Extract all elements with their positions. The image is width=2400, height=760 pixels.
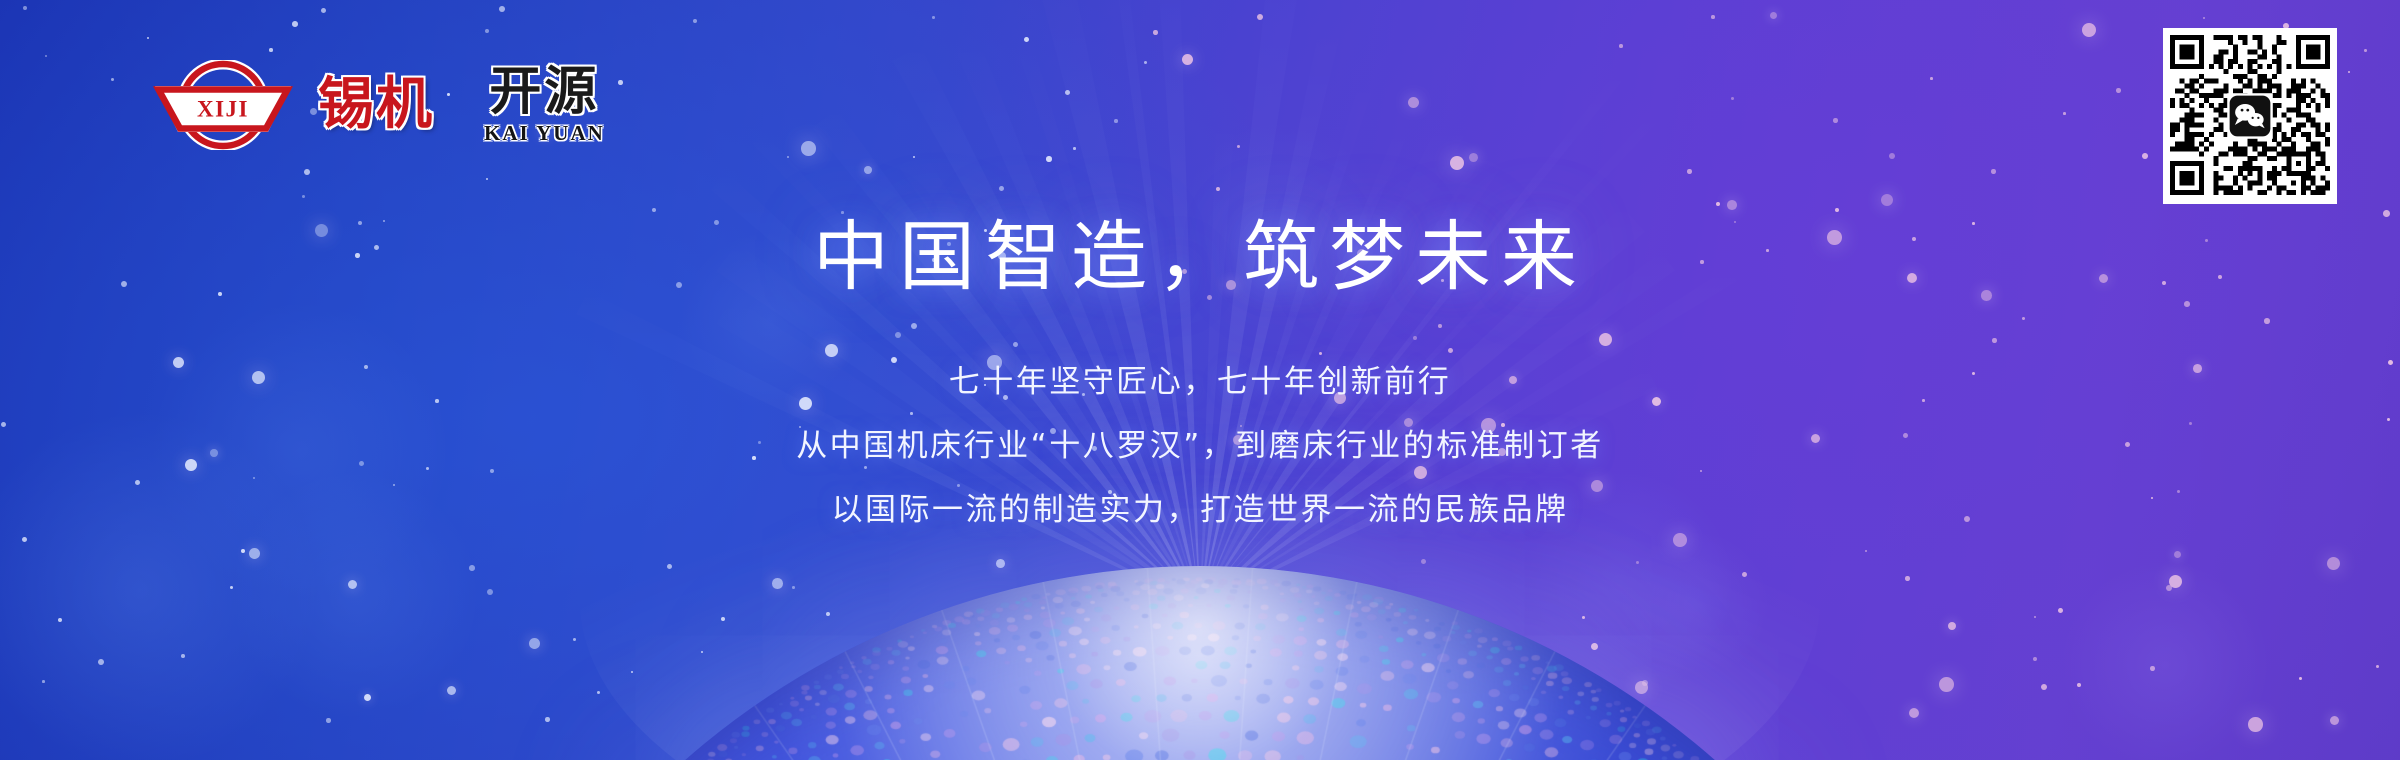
- particle-dot: [932, 16, 935, 19]
- particle-dot: [23, 6, 27, 10]
- particle-dot: [292, 21, 298, 27]
- particle-dot: [1716, 202, 1720, 206]
- promo-banner: XIJI 锡机 开源 KAI YUAN 中国智造，筑梦未来 七十年坚守匠心，七十…: [0, 0, 2400, 760]
- particle-dot: [913, 156, 915, 158]
- particle-dot: [1153, 30, 1158, 35]
- particle-dot: [469, 565, 475, 571]
- bokeh-circle: [2060, 560, 2270, 760]
- particle-dot: [2082, 23, 2096, 37]
- particle-dot: [826, 612, 830, 616]
- particle-dot: [545, 717, 550, 722]
- kaiyuan-brand-block: 开源 KAI YUAN: [484, 66, 605, 144]
- particle-dot: [2364, 49, 2367, 52]
- particle-dot: [1046, 156, 1052, 162]
- wechat-qr-code[interactable]: [2163, 28, 2337, 204]
- particle-dot: [1024, 37, 1029, 42]
- particle-dot: [667, 564, 672, 569]
- particle-dot: [1865, 550, 1867, 552]
- particle-dot: [1450, 156, 1464, 170]
- particle-dot: [1144, 61, 1147, 64]
- particle-dot: [486, 178, 488, 180]
- particle-dot: [1114, 119, 1118, 123]
- particle-dot: [499, 6, 505, 12]
- particle-dot: [1635, 681, 1648, 694]
- particle-dot: [573, 638, 576, 641]
- particle-dot: [1731, 97, 1734, 100]
- particle-dot: [1257, 14, 1263, 20]
- particle-dot: [1991, 169, 1996, 174]
- particle-dot: [348, 580, 357, 589]
- particle-dot: [792, 586, 795, 589]
- particle-dot: [996, 559, 1005, 568]
- particle-dot: [2041, 684, 2047, 690]
- particle-dot: [1216, 187, 1220, 191]
- particle-dot: [22, 537, 27, 542]
- particle-dot: [241, 549, 245, 553]
- particle-dot: [2203, 17, 2205, 19]
- particle-dot: [45, 55, 47, 57]
- particle-dot: [2033, 657, 2037, 661]
- particle-dot: [1909, 708, 1919, 718]
- particle-dot: [529, 638, 540, 649]
- subtitle-line-2: 从中国机床行业“十八罗汉”，到磨床行业的标准制订者: [0, 431, 2400, 462]
- particle-dot: [2166, 585, 2172, 591]
- globe-rim-shading: [420, 566, 1980, 760]
- particle-dot: [1469, 153, 1478, 162]
- particle-dot: [98, 659, 104, 665]
- particle-dot: [1237, 145, 1240, 148]
- particle-dot: [787, 156, 789, 158]
- xiji-emblem-icon: XIJI: [150, 60, 296, 150]
- particle-dot: [801, 141, 816, 156]
- particle-dot: [2376, 665, 2379, 668]
- particle-dot: [693, 19, 697, 23]
- svg-text:XIJI: XIJI: [197, 97, 249, 122]
- particle-dot: [1421, 559, 1426, 564]
- particle-dot: [2169, 575, 2182, 588]
- particle-dot: [1642, 680, 1648, 686]
- banner-copy-block: 中国智造，筑梦未来 七十年坚守匠心，七十年创新前行 从中国机床行业“十八罗汉”，…: [0, 212, 2400, 526]
- dotted-globe: [420, 566, 1980, 760]
- subtitle-line-1: 七十年坚守匠心，七十年创新前行: [0, 367, 2400, 398]
- particle-dot: [1182, 54, 1193, 65]
- particle-dot: [181, 654, 185, 658]
- particle-dot: [1770, 12, 1777, 19]
- particle-dot: [2034, 616, 2036, 618]
- kaiyuan-name-en: KAI YUAN: [484, 123, 605, 144]
- particle-dot: [1930, 77, 1933, 80]
- particle-dot: [1065, 90, 1070, 95]
- particle-dot: [1889, 153, 1895, 159]
- particle-dot: [364, 694, 371, 701]
- particle-dot: [631, 671, 633, 673]
- particle-dot: [485, 29, 489, 33]
- particle-dot: [1408, 97, 1419, 108]
- particle-dot: [111, 78, 114, 81]
- particle-dot: [1673, 533, 1687, 547]
- particle-dot: [2248, 717, 2263, 732]
- particle-dot: [1881, 194, 1893, 206]
- particle-dot: [721, 617, 725, 621]
- particle-dot: [302, 195, 305, 198]
- particle-dot: [2058, 608, 2063, 613]
- particle-dot: [1687, 169, 1692, 174]
- particle-dot: [2142, 153, 2148, 159]
- particle-dot: [1591, 643, 1598, 650]
- particle-dot: [999, 186, 1004, 191]
- page-title: 中国智造，筑梦未来: [0, 212, 2400, 302]
- particle-dot: [1742, 572, 1747, 577]
- particle-dot: [772, 578, 783, 589]
- particle-dot: [2116, 88, 2121, 93]
- particle-dot: [321, 8, 326, 13]
- particle-dot: [2330, 716, 2339, 725]
- particle-dot: [326, 718, 331, 723]
- particle-dot: [230, 586, 233, 589]
- particle-dot: [2327, 557, 2340, 570]
- company-name-cn: 锡机: [318, 77, 434, 133]
- particle-dot: [249, 548, 260, 559]
- particle-dot: [1073, 147, 1076, 150]
- particle-dot: [1582, 616, 1585, 619]
- brand-logo-lockup[interactable]: XIJI 锡机 开源 KAI YUAN: [150, 60, 605, 150]
- particle-dot: [2077, 683, 2081, 687]
- particle-dot: [2174, 551, 2181, 558]
- particle-dot: [1636, 561, 1639, 564]
- particle-dot: [701, 651, 703, 653]
- particle-dot: [447, 686, 456, 695]
- particle-dot: [1833, 118, 1838, 123]
- globe-apex-glow: [420, 566, 1980, 760]
- particle-dot: [2299, 677, 2302, 680]
- particle-dot: [42, 680, 45, 683]
- particle-dot: [597, 691, 600, 694]
- particle-dot: [304, 169, 310, 175]
- particle-dot: [1711, 15, 1715, 19]
- particle-dot: [2150, 666, 2155, 671]
- kaiyuan-name-cn: 开源: [484, 66, 605, 118]
- particle-dot: [147, 37, 149, 39]
- particle-dot: [864, 166, 872, 174]
- particle-dot: [487, 589, 493, 595]
- particle-dot: [1905, 576, 1910, 581]
- subtitle-line-3: 以国际一流的制造实力，打造世界一流的民族品牌: [0, 495, 2400, 526]
- particle-dot: [1727, 200, 1737, 210]
- particle-dot: [1619, 44, 1623, 48]
- particle-dot: [2348, 71, 2350, 73]
- particle-dot: [618, 80, 623, 85]
- qr-code-image: [2170, 35, 2330, 197]
- bokeh-circle: [1620, 530, 1770, 680]
- globe-dot-grid: [420, 566, 1980, 760]
- particle-dot: [58, 618, 62, 622]
- particle-dot: [1948, 622, 1956, 630]
- particle-dot: [1939, 677, 1954, 692]
- particle-dot: [2063, 112, 2066, 115]
- particle-dot: [269, 48, 273, 52]
